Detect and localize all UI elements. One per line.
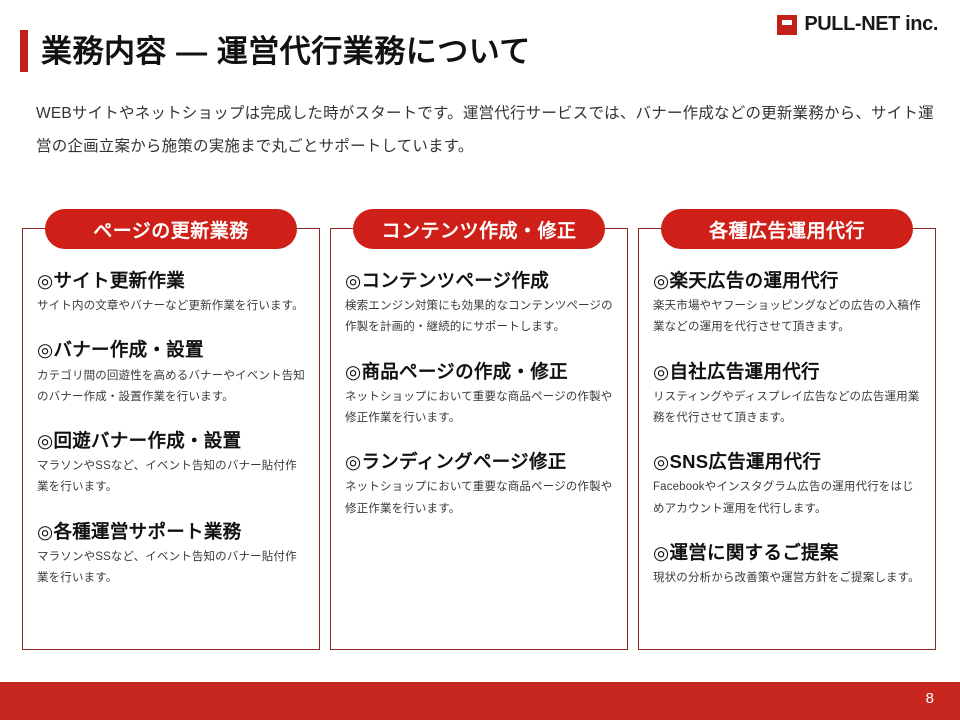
- service-item: ◎楽天広告の運用代行 楽天市場やヤフーショッピングなどの広告の入稿作業などの運用…: [653, 269, 921, 339]
- service-item: ◎バナー作成・設置 カテゴリ間の回遊性を高めるバナーやイベント告知のバナー作成・…: [37, 338, 305, 408]
- service-item-description: ネットショップにおいて重要な商品ページの作製や修正作業を行います。: [345, 477, 613, 520]
- slide-header: PULL-NET inc. 業務内容 ― 運営代行業務について: [0, 0, 960, 92]
- service-item-description: サイト内の文章やバナーなど更新作業を行います。: [37, 296, 305, 317]
- card-badge: ページの更新業務: [45, 209, 297, 249]
- service-item: ◎ランディングページ修正 ネットショップにおいて重要な商品ページの作製や修正作業…: [345, 450, 613, 520]
- service-item-title: ◎各種運営サポート業務: [37, 520, 305, 543]
- card-body: ◎コンテンツページ作成 検索エンジン対策にも効果的なコンテンツページの作製を計画…: [331, 229, 627, 520]
- service-item-title: ◎商品ページの作成・修正: [345, 360, 613, 383]
- pullnet-logo-mark-icon: [777, 15, 797, 35]
- service-card: コンテンツ作成・修正 ◎コンテンツページ作成 検索エンジン対策にも効果的なコンテ…: [330, 228, 628, 650]
- service-item-description: ネットショップにおいて重要な商品ページの作製や修正作業を行います。: [345, 387, 613, 430]
- service-item: ◎各種運営サポート業務 マラソンやSSなど、イベント告知のバナー貼付作業を行いま…: [37, 520, 305, 590]
- service-item-title: ◎楽天広告の運用代行: [653, 269, 921, 292]
- page-title-row: 業務内容 ― 運営代行業務について: [20, 30, 531, 72]
- service-item: ◎サイト更新作業 サイト内の文章やバナーなど更新作業を行います。: [37, 269, 305, 317]
- title-accent-bar: [20, 30, 28, 72]
- service-item: ◎コンテンツページ作成 検索エンジン対策にも効果的なコンテンツページの作製を計画…: [345, 269, 613, 339]
- service-item-title: ◎コンテンツページ作成: [345, 269, 613, 292]
- service-cards-container: ページの更新業務 ◎サイト更新作業 サイト内の文章やバナーなど更新作業を行います…: [22, 208, 938, 650]
- service-item: ◎運営に関するご提案 現状の分析から改善策や運営方針をご提案します。: [653, 541, 921, 589]
- service-item-description: マラソンやSSなど、イベント告知のバナー貼付作業を行います。: [37, 456, 305, 499]
- service-item: ◎回遊バナー作成・設置 マラソンやSSなど、イベント告知のバナー貼付作業を行いま…: [37, 429, 305, 499]
- service-item-description: Facebookやインスタグラム広告の運用代行をはじめアカウント運用を代行します…: [653, 477, 921, 520]
- service-item-description: 現状の分析から改善策や運営方針をご提案します。: [653, 568, 921, 589]
- service-item-description: 検索エンジン対策にも効果的なコンテンツページの作製を計画的・継続的にサポートしま…: [345, 296, 613, 339]
- card-body: ◎サイト更新作業 サイト内の文章やバナーなど更新作業を行います。 ◎バナー作成・…: [23, 229, 319, 589]
- service-item-title: ◎サイト更新作業: [37, 269, 305, 292]
- service-item: ◎SNS広告運用代行 Facebookやインスタグラム広告の運用代行をはじめアカ…: [653, 450, 921, 520]
- service-card: 各種広告運用代行 ◎楽天広告の運用代行 楽天市場やヤフーショッピングなどの広告の…: [638, 228, 936, 650]
- service-item-title: ◎ランディングページ修正: [345, 450, 613, 473]
- company-logo-text: PULL-NET inc.: [804, 13, 938, 36]
- lead-paragraph: WEBサイトやネットショップは完成した時がスタートです。運営代行サービスでは、バ…: [36, 98, 936, 163]
- service-item: ◎商品ページの作成・修正 ネットショップにおいて重要な商品ページの作製や修正作業…: [345, 360, 613, 430]
- card-badge: 各種広告運用代行: [661, 209, 913, 249]
- service-item-title: ◎自社広告運用代行: [653, 360, 921, 383]
- service-item-title: ◎SNS広告運用代行: [653, 450, 921, 473]
- card-body: ◎楽天広告の運用代行 楽天市場やヤフーショッピングなどの広告の入稿作業などの運用…: [639, 229, 935, 589]
- service-card: ページの更新業務 ◎サイト更新作業 サイト内の文章やバナーなど更新作業を行います…: [22, 228, 320, 650]
- card-badge: コンテンツ作成・修正: [353, 209, 605, 249]
- page-number: 8: [926, 691, 934, 706]
- service-item-description: 楽天市場やヤフーショッピングなどの広告の入稿作業などの運用を代行させて頂きます。: [653, 296, 921, 339]
- service-item-description: カテゴリ間の回遊性を高めるバナーやイベント告知のバナー作成・設置作業を行います。: [37, 366, 305, 409]
- service-item-description: リスティングやディスプレイ広告などの広告運用業務を代行させて頂きます。: [653, 387, 921, 430]
- service-item: ◎自社広告運用代行 リスティングやディスプレイ広告などの広告運用業務を代行させて…: [653, 360, 921, 430]
- page-title: 業務内容 ― 運営代行業務について: [41, 36, 531, 67]
- company-logo: PULL-NET inc.: [777, 13, 938, 36]
- service-item-title: ◎回遊バナー作成・設置: [37, 429, 305, 452]
- service-item-description: マラソンやSSなど、イベント告知のバナー貼付作業を行います。: [37, 547, 305, 590]
- service-item-title: ◎運営に関するご提案: [653, 541, 921, 564]
- service-item-title: ◎バナー作成・設置: [37, 338, 305, 361]
- footer-bar: [0, 682, 960, 720]
